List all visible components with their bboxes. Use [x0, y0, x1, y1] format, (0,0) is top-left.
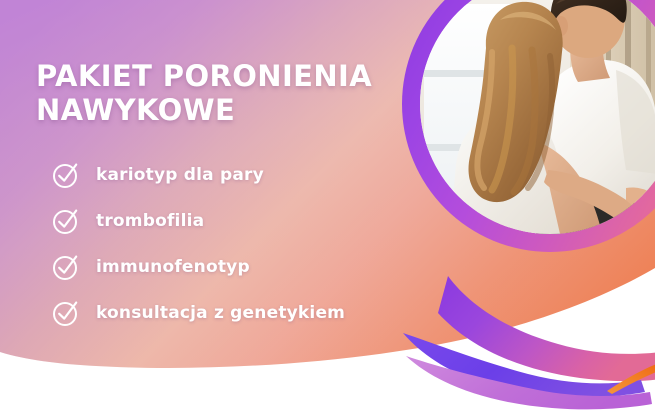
promo-banner: PAKIET PORONIENIA NAWYKOWE kariotyp dla … [0, 0, 655, 420]
checklist-item: konsultacja z genetykiem [52, 290, 345, 336]
check-circle-icon [52, 253, 80, 281]
check-circle-icon [52, 299, 80, 327]
checklist-item: kariotyp dla pary [52, 152, 345, 198]
banner-headline: PAKIET PORONIENIA NAWYKOWE [36, 60, 386, 128]
checklist-item: trombofilia [52, 198, 345, 244]
check-circle-icon [52, 207, 80, 235]
check-circle-icon [52, 161, 80, 189]
checklist-item-label: kariotyp dla pary [96, 165, 264, 185]
checklist-item: immunofenotyp [52, 244, 345, 290]
checklist-item-label: immunofenotyp [96, 257, 250, 277]
checklist-item-label: konsultacja z genetykiem [96, 303, 345, 323]
checklist-item-label: trombofilia [96, 211, 204, 231]
feature-checklist: kariotyp dla pary trombofilia immunofeno… [52, 152, 345, 336]
